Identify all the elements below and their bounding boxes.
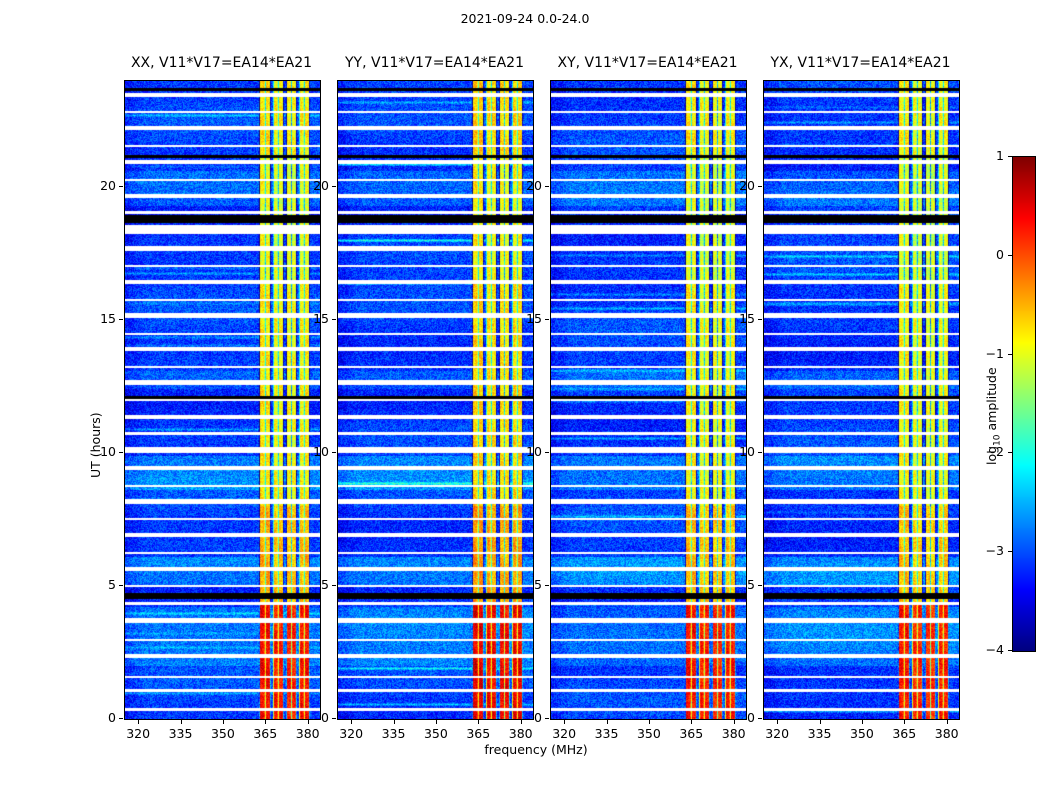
- y-tick-label: 15: [494, 311, 542, 326]
- y-tick-label: 20: [68, 178, 116, 193]
- x-tick-mark: [138, 720, 139, 724]
- y-tick-mark: [545, 585, 549, 586]
- colorbar-tick-label: −4: [966, 642, 1004, 657]
- y-tick-mark: [545, 319, 549, 320]
- y-tick-label: 0: [281, 710, 329, 725]
- x-tick-mark: [394, 720, 395, 724]
- dynamic-spectrum-image-yx: [764, 81, 959, 719]
- x-tick-mark: [607, 720, 608, 724]
- waterfall-panel-xx[interactable]: [124, 80, 321, 720]
- y-tick-label: 0: [707, 710, 755, 725]
- colorbar-tick-label: 0: [966, 247, 1004, 262]
- x-tick-mark: [777, 720, 778, 724]
- colorbar-tick-label: −1: [966, 346, 1004, 361]
- colorbar-tick-mark: [1008, 551, 1012, 552]
- y-tick-label: 5: [707, 577, 755, 592]
- y-tick-mark: [758, 319, 762, 320]
- y-tick-mark: [758, 585, 762, 586]
- x-tick-mark: [820, 720, 821, 724]
- x-tick-mark: [947, 720, 948, 724]
- y-tick-label: 0: [494, 710, 542, 725]
- waterfall-panel-yy[interactable]: [337, 80, 534, 720]
- colorbar-gradient: [1013, 157, 1035, 651]
- waterfall-panel-yx[interactable]: [763, 80, 960, 720]
- y-tick-label: 20: [494, 178, 542, 193]
- y-tick-mark: [332, 186, 336, 187]
- dynamic-spectrum-image-yy: [338, 81, 533, 719]
- x-tick-mark: [564, 720, 565, 724]
- y-tick-label: 0: [68, 710, 116, 725]
- y-tick-mark: [758, 452, 762, 453]
- y-tick-mark: [758, 186, 762, 187]
- y-tick-label: 15: [707, 311, 755, 326]
- y-tick-label: 5: [281, 577, 329, 592]
- y-tick-label: 15: [281, 311, 329, 326]
- y-tick-label: 5: [68, 577, 116, 592]
- x-tick-mark: [265, 720, 266, 724]
- y-tick-label: 15: [68, 311, 116, 326]
- x-tick-mark: [351, 720, 352, 724]
- y-tick-label: 10: [707, 444, 755, 459]
- y-tick-mark: [545, 452, 549, 453]
- x-tick-mark: [181, 720, 182, 724]
- colorbar-tick-mark: [1008, 650, 1012, 651]
- colorbar-tick-mark: [1008, 452, 1012, 453]
- y-tick-mark: [545, 718, 549, 719]
- x-axis-label: frequency (MHz): [386, 742, 686, 757]
- y-tick-label: 10: [68, 444, 116, 459]
- x-tick-mark: [649, 720, 650, 724]
- colorbar-tick-mark: [1008, 354, 1012, 355]
- y-tick-mark: [332, 319, 336, 320]
- y-tick-mark: [119, 452, 123, 453]
- y-tick-mark: [119, 585, 123, 586]
- y-tick-mark: [119, 718, 123, 719]
- y-tick-label: 10: [281, 444, 329, 459]
- x-tick-label: 380: [922, 726, 972, 741]
- y-tick-label: 5: [494, 577, 542, 592]
- waterfall-panel-xy[interactable]: [550, 80, 747, 720]
- colorbar-tick-mark: [1008, 156, 1012, 157]
- colorbar-tick-label: −3: [966, 543, 1004, 558]
- colorbar-label-text: log10 amplitude: [984, 367, 999, 465]
- y-tick-label: 20: [281, 178, 329, 193]
- colorbar[interactable]: [1012, 156, 1036, 652]
- x-tick-mark: [862, 720, 863, 724]
- figure-suptitle: 2021-09-24 0.0-24.0: [0, 11, 1050, 26]
- y-tick-mark: [545, 186, 549, 187]
- x-tick-mark: [691, 720, 692, 724]
- colorbar-label: log10 amplitude: [984, 367, 1003, 465]
- y-tick-mark: [332, 718, 336, 719]
- y-tick-label: 20: [707, 178, 755, 193]
- colorbar-tick-mark: [1008, 255, 1012, 256]
- figure-canvas: 2021-09-24 0.0-24.0 UT (hours) frequency…: [0, 0, 1050, 800]
- x-tick-mark: [223, 720, 224, 724]
- y-tick-mark: [119, 186, 123, 187]
- panel-title-yx: YX, V11*V17=EA14*EA21: [711, 55, 1011, 71]
- y-tick-label: 10: [494, 444, 542, 459]
- colorbar-label-subscript: 10: [993, 434, 1003, 445]
- y-tick-mark: [758, 718, 762, 719]
- y-tick-mark: [332, 452, 336, 453]
- y-tick-mark: [332, 585, 336, 586]
- x-tick-mark: [478, 720, 479, 724]
- y-tick-mark: [119, 319, 123, 320]
- x-tick-mark: [436, 720, 437, 724]
- dynamic-spectrum-image-xy: [551, 81, 746, 719]
- x-tick-mark: [904, 720, 905, 724]
- colorbar-tick-label: 1: [966, 148, 1004, 163]
- dynamic-spectrum-image-xx: [125, 81, 320, 719]
